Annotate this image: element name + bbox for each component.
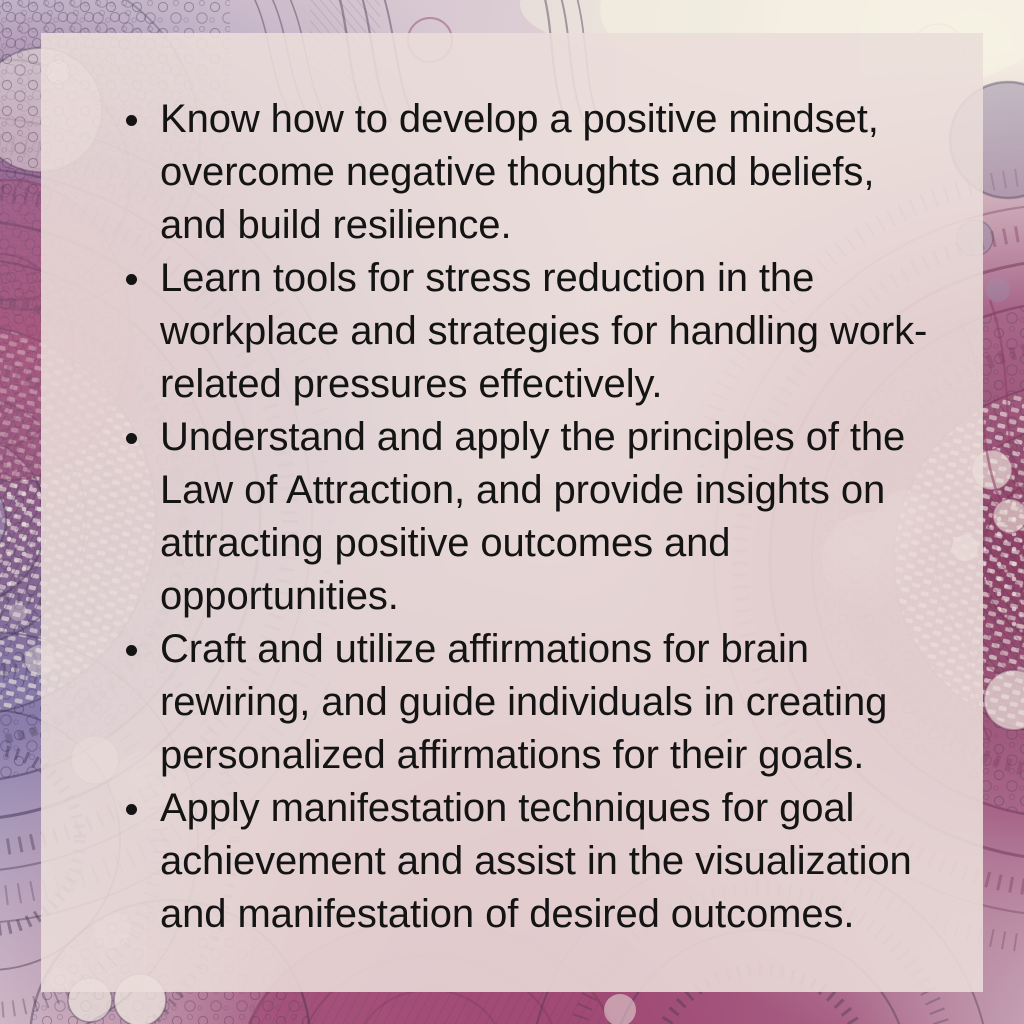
bullet-text: Craft and utilize affirmations for brain… <box>160 623 949 782</box>
list-item: Craft and utilize affirmations for brain… <box>119 623 949 782</box>
bullet-point-icon <box>126 115 137 126</box>
bullet-list: Know how to develop a positive mindset, … <box>119 93 949 941</box>
list-item: Know how to develop a positive mindset, … <box>119 93 949 252</box>
bullet-text: Understand and apply the principles of t… <box>160 411 949 623</box>
bullet-point-icon <box>126 433 137 444</box>
bullet-text: Know how to develop a positive mindset, … <box>160 93 949 252</box>
bullet-text: Learn tools for stress reduction in the … <box>160 252 949 411</box>
list-item: Apply manifestation techniques for goal … <box>119 782 949 941</box>
bullet-text: Apply manifestation techniques for goal … <box>160 782 949 941</box>
bullet-point-icon <box>126 274 137 285</box>
bullet-point-icon <box>126 645 137 656</box>
content-panel: Know how to develop a positive mindset, … <box>41 33 983 992</box>
list-item: Learn tools for stress reduction in the … <box>119 252 949 411</box>
slide-canvas: Know how to develop a positive mindset, … <box>0 0 1024 1024</box>
bullet-point-icon <box>126 804 137 815</box>
list-item: Understand and apply the principles of t… <box>119 411 949 623</box>
